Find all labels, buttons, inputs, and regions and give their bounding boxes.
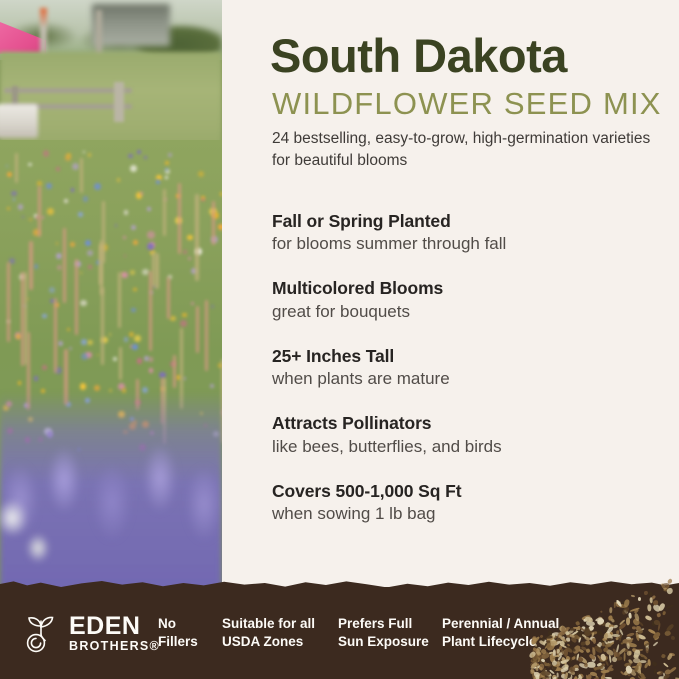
photo-barn <box>92 4 170 46</box>
feature-title: Fall or Spring Planted <box>272 210 672 232</box>
product-infographic-card: South Dakota WILDFLOWER SEED MIX 24 best… <box>0 0 679 679</box>
footer-badge-line2: USDA Zones <box>222 633 315 651</box>
logo-wordmark: EDEN BROTHERS® <box>69 614 160 653</box>
product-subtitle: WILDFLOWER SEED MIX <box>272 88 662 119</box>
feature-title: 25+ Inches Tall <box>272 345 672 367</box>
footer-badge-sun-exposure: Prefers Full Sun Exposure <box>338 615 429 651</box>
footer-badge-line2: Fillers <box>158 633 198 651</box>
footer-bar: EDEN BROTHERS® No Fillers Suitable for a… <box>0 587 679 679</box>
feature-subtitle: like bees, butterflies, and birds <box>272 436 672 458</box>
logo-brothers-text: BROTHERS® <box>69 640 160 653</box>
content-panel: South Dakota WILDFLOWER SEED MIX 24 best… <box>222 0 679 610</box>
footer-badge-line1: Perennial / Annual <box>442 615 559 633</box>
product-title: South Dakota <box>270 32 567 79</box>
footer-badge-line1: Prefers Full <box>338 615 429 633</box>
feature-item: Fall or Spring Plantedfor blooms summer … <box>272 210 672 255</box>
feature-title: Covers 500-1,000 Sq Ft <box>272 480 672 502</box>
feature-item: 25+ Inches Tallwhen plants are mature <box>272 345 672 390</box>
feature-title: Attracts Pollinators <box>272 412 672 434</box>
footer-badge-usda-zones: Suitable for all USDA Zones <box>222 615 315 651</box>
product-description: 24 bestselling, easy-to-grow, high-germi… <box>272 128 652 173</box>
photo-bucket <box>0 104 38 138</box>
feature-list: Fall or Spring Plantedfor blooms summer … <box>272 210 672 525</box>
sprout-seedling-icon <box>22 613 60 653</box>
footer-badge-plant-lifecycle: Perennial / Annual Plant Lifecycle <box>442 615 559 651</box>
feature-subtitle: when sowing 1 lb bag <box>272 503 672 525</box>
logo-eden-text: EDEN <box>69 614 160 639</box>
feature-item: Covers 500-1,000 Sq Ftwhen sowing 1 lb b… <box>272 480 672 525</box>
feature-subtitle: when plants are mature <box>272 368 672 390</box>
footer-badge-no-fillers: No Fillers <box>158 615 198 651</box>
photo-white-flowers <box>0 478 66 574</box>
feature-item: Multicolored Bloomsgreat for bouquets <box>272 277 672 322</box>
eden-brothers-logo[interactable]: EDEN BROTHERS® <box>22 613 160 653</box>
footer-badge-line2: Sun Exposure <box>338 633 429 651</box>
feature-title: Multicolored Blooms <box>272 277 672 299</box>
feature-subtitle: great for bouquets <box>272 301 672 323</box>
footer-badge-line2: Plant Lifecycle <box>442 633 559 651</box>
wildflower-meadow-photo <box>0 0 222 610</box>
footer-badge-line1: Suitable for all <box>222 615 315 633</box>
footer-badge-line1: No <box>158 615 198 633</box>
feature-subtitle: for blooms summer through fall <box>272 233 672 255</box>
feature-item: Attracts Pollinatorslike bees, butterfli… <box>272 412 672 457</box>
